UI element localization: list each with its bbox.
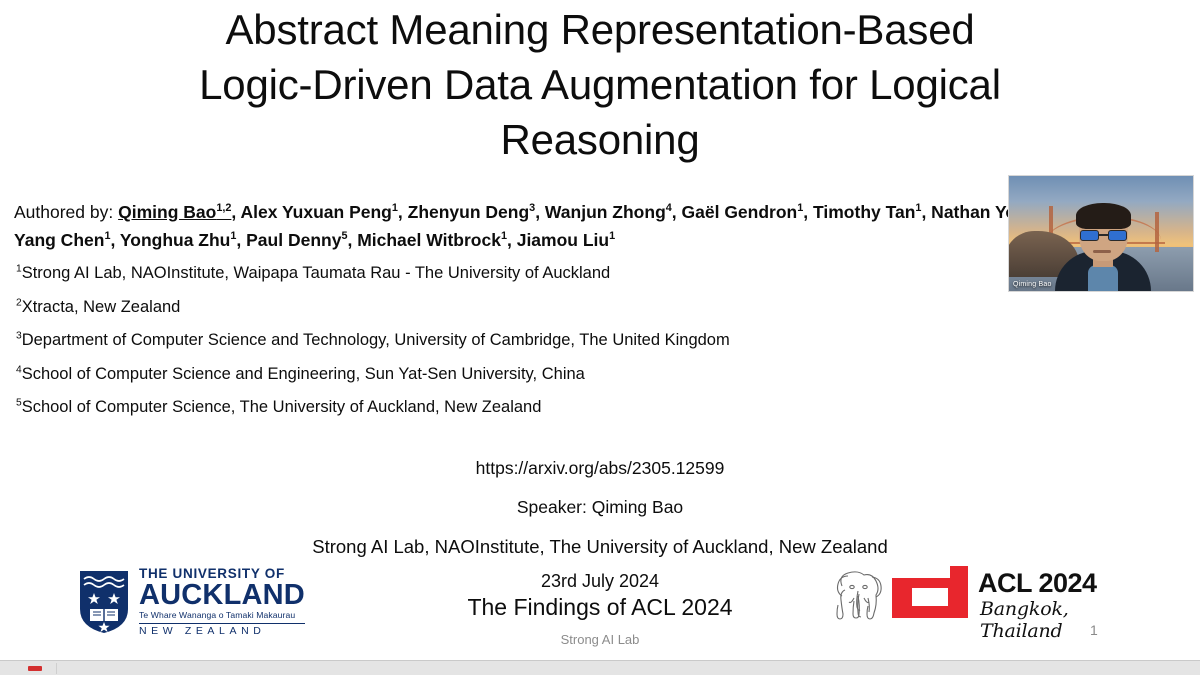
affiliation-line: 1Strong AI Lab, NAOInstitute, Waipapa Ta…: [16, 264, 1016, 283]
title-line-2: Logic-Driven Data Augmentation for Logic…: [100, 57, 1100, 112]
author-list: Authored by: Qiming Bao1,2, Alex Yuxuan …: [14, 198, 1074, 255]
acl-wordmark: ACL 2024: [978, 568, 1097, 599]
acl-mark-icon: [892, 566, 988, 630]
auckland-shield-icon: [78, 569, 130, 635]
auckland-country: NEW ZEALAND: [139, 623, 305, 637]
glasses-icon: [1080, 230, 1127, 241]
bridge-tower-right-icon: [1155, 212, 1159, 252]
auckland-logo-text: THE UNIVERSITY OF AUCKLAND Te Whare Wana…: [139, 567, 305, 636]
toolbar-divider: [56, 663, 57, 674]
affiliation-text: Department of Computer Science and Techn…: [22, 331, 730, 349]
person-mouth: [1093, 250, 1111, 253]
affil-marker: 1: [797, 202, 803, 214]
affil-marker: 4: [666, 202, 672, 214]
affiliation-list: 1Strong AI Lab, NAOInstitute, Waipapa Ta…: [16, 264, 1016, 432]
auckland-maori-name: Te Whare Wananga o Tamaki Makaurau: [139, 611, 305, 620]
affil-marker: 1: [230, 231, 236, 243]
affil-marker: 1: [392, 202, 398, 214]
affiliation-line: 3Department of Computer Science and Tech…: [16, 331, 1016, 350]
authored-by-label: Authored by:: [14, 202, 118, 222]
affiliation-line: 2Xtracta, New Zealand: [16, 298, 1016, 317]
webcam-participant-name: Qiming Bao: [1013, 281, 1052, 288]
webcam-person: [1055, 199, 1151, 291]
person-hair: [1076, 203, 1131, 229]
affiliation-text: School of Computer Science and Engineeri…: [22, 365, 585, 383]
affil-marker: 3: [529, 202, 535, 214]
presenter-affiliation-line: Strong AI Lab, NAOInstitute, The Univers…: [0, 536, 1200, 558]
presentation-viewer: Abstract Meaning Representation-Based Lo…: [0, 0, 1200, 675]
bottom-toolbar[interactable]: [0, 660, 1200, 675]
affil-marker: 1: [104, 231, 110, 243]
person-collar: [1088, 265, 1118, 291]
recording-indicator-icon: [28, 666, 42, 671]
affiliation-line: 5School of Computer Science, The Univers…: [16, 398, 1016, 417]
acl-city: Bangkok, Thailand: [980, 598, 1128, 642]
glasses-lens-left: [1080, 230, 1099, 241]
title-line-3: Reasoning: [100, 112, 1100, 167]
affiliation-text: Strong AI Lab, NAOInstitute, Waipapa Tau…: [22, 264, 611, 282]
paper-url[interactable]: https://arxiv.org/abs/2305.12599: [0, 458, 1200, 479]
affil-marker: 1: [501, 231, 507, 243]
university-of-auckland-logo: THE UNIVERSITY OF AUCKLAND Te Whare Wana…: [78, 566, 306, 638]
glasses-bridge: [1099, 234, 1108, 236]
affil-marker: 1: [915, 202, 921, 214]
acl-2024-logo: ACL 2024 Bangkok, Thailand: [828, 562, 1128, 638]
presenting-author-text: Qiming Bao: [118, 202, 216, 222]
affil-marker: 5: [341, 231, 347, 243]
auckland-name: AUCKLAND: [139, 581, 305, 610]
slide-canvas: Abstract Meaning Representation-Based Lo…: [0, 0, 1200, 660]
webcam-tile[interactable]: Qiming Bao: [1008, 175, 1194, 292]
affiliation-text: School of Computer Science, The Universi…: [22, 398, 542, 416]
presenting-author-name: Qiming Bao1,2: [118, 202, 231, 222]
affil-marker: 1: [609, 231, 615, 243]
affiliation-line: 4School of Computer Science and Engineer…: [16, 365, 1016, 384]
slide-title: Abstract Meaning Representation-Based Lo…: [100, 2, 1100, 167]
elephant-icon: [828, 564, 894, 630]
glasses-lens-right: [1108, 230, 1127, 241]
affiliation-text: Xtracta, New Zealand: [22, 298, 181, 316]
presenting-author-affil-marker: 1,2: [216, 202, 231, 214]
title-line-1: Abstract Meaning Representation-Based: [100, 2, 1100, 57]
slide-meta: https://arxiv.org/abs/2305.12599 Speaker…: [0, 458, 1200, 568]
speaker-line: Speaker: Qiming Bao: [0, 497, 1200, 518]
